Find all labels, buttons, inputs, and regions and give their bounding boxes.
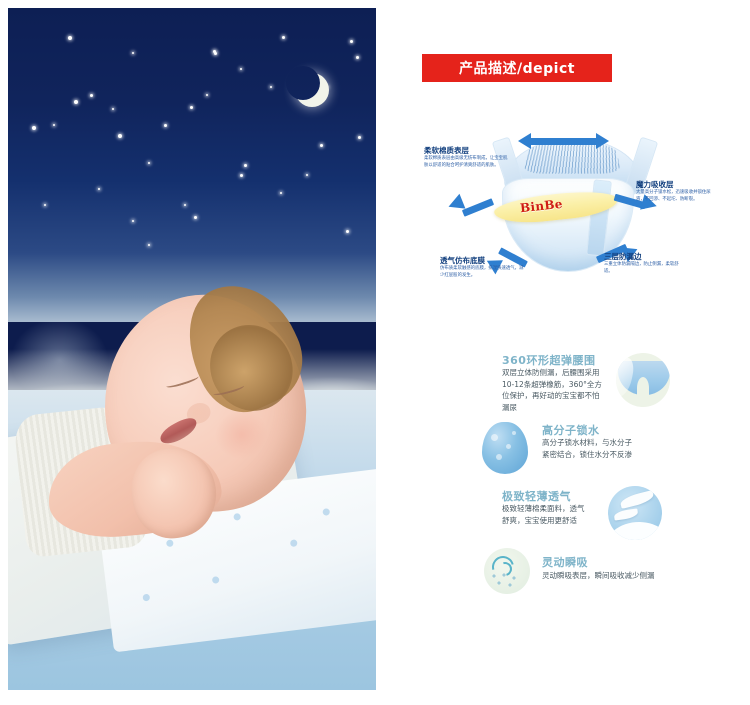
callout-breathable-cloth-backsheet: 透气仿布底膜 仿布质柔软触感的底膜，排湿快速透气，减少红屁股的发生。 (440, 256, 526, 279)
callout-triple-leak-guard: 三层防漏边 三重立体防漏隔边，防止侧漏，柔软舒适。 (604, 252, 684, 275)
star (68, 36, 72, 40)
feature-body: 高分子锁水材料，与水分子紧密结合，锁住水分不反渗 (542, 437, 638, 460)
callout-title: 魔力吸收层 (636, 180, 716, 189)
content-panel: 产品描述/depict BinBe (386, 0, 750, 705)
feature-title: 360环形超弹腰围 (502, 352, 595, 368)
star (356, 56, 359, 59)
callout-title: 柔软棉质表层 (424, 146, 510, 155)
crescent-moon-icon (286, 66, 320, 100)
star (44, 204, 46, 206)
star (32, 126, 36, 130)
callout-body: 三重立体防漏隔边，防止侧漏，柔软舒适。 (604, 262, 684, 275)
callout-body: 仿布质柔软触感的底膜，排湿快速透气，减少红屁股的发生。 (440, 266, 526, 279)
star (280, 192, 282, 194)
product-detail-page: 产品描述/depict BinBe (0, 0, 750, 705)
star (326, 86, 328, 88)
star (346, 230, 349, 233)
star (164, 124, 167, 127)
star (98, 188, 100, 190)
callout-body: 大量高分子锁水松，迅速吸收并锁住尿液，不回渗、不起坨、防断裂。 (636, 190, 716, 203)
star (194, 216, 197, 219)
feature-title: 高分子锁水 (542, 422, 600, 438)
feature-title: 灵动瞬吸 (542, 554, 588, 570)
callout-title: 透气仿布底膜 (440, 256, 526, 265)
feature-body: 灵动瞬吸表层，瞬间吸收减少侧漏 (542, 570, 722, 582)
sleeping-baby (60, 284, 340, 557)
star (148, 162, 150, 164)
star (282, 36, 285, 39)
baby-cheek (211, 406, 272, 463)
feather-icon (608, 486, 662, 540)
hero-photo (8, 8, 376, 690)
star (184, 204, 186, 206)
star (240, 68, 242, 70)
star (190, 106, 193, 109)
product-structure-diagram: BinBe (400, 130, 740, 290)
feature-body: 双层立体防侧漏，后腰围采用10-12条超弹橡筋，360°全方位保护，再好动的宝宝… (502, 367, 606, 414)
star (132, 220, 134, 222)
star (320, 144, 323, 147)
star (118, 134, 122, 138)
baby-eye-left (166, 373, 201, 390)
star (240, 174, 243, 177)
feature-title: 极致轻薄透气 (502, 488, 571, 504)
callout-soft-cotton-topsheet: 柔软棉质表层 柔软棉质表层由高级无纺布制成，让宝宝肌肤以舒适的贴合呵护清爽舒适的… (424, 146, 510, 169)
callout-body: 柔软棉质表层由高级无纺布制成，让宝宝肌肤以舒适的贴合呵护清爽舒适的肌肤。 (424, 156, 510, 169)
star (112, 108, 114, 110)
star (74, 100, 78, 104)
star (90, 94, 93, 97)
star (270, 86, 272, 88)
feature-body: 极致轻薄棉柔面料，透气舒爽，宝宝使用更舒适 (502, 503, 588, 526)
section-banner: 产品描述/depict (422, 54, 612, 82)
star (206, 94, 208, 96)
feature-item-instant-absorption[interactable]: 灵动瞬吸 灵动瞬吸表层，瞬间吸收减少侧漏 (386, 544, 750, 594)
star (244, 164, 247, 167)
star (358, 136, 361, 139)
star (350, 40, 353, 43)
callout-title: 三层防漏边 (604, 252, 684, 261)
feature-list: 360环形超弹腰围 双层立体防侧漏，后腰围采用10-12条超弹橡筋，360°全方… (386, 350, 750, 594)
water-drop-icon (482, 422, 528, 474)
star (132, 52, 134, 54)
star (214, 52, 217, 55)
feature-item-ultra-thin-breathable[interactable]: 极致轻薄透气 极致轻薄棉柔面料，透气舒爽，宝宝使用更舒适 (386, 484, 750, 544)
feature-item-polymer-water-lock[interactable]: 高分子锁水 高分子锁水材料，与水分子紧密结合，锁住水分不反渗 (386, 416, 750, 484)
swirl-absorb-icon (484, 548, 530, 594)
callout-magic-absorbent-core: 魔力吸收层 大量高分子锁水松，迅速吸收并锁住尿液，不回渗、不起坨、防断裂。 (636, 180, 716, 203)
star (306, 174, 308, 176)
star (148, 244, 150, 246)
feature-item-elastic-waistband[interactable]: 360环形超弹腰围 双层立体防侧漏，后腰围采用10-12条超弹橡筋，360°全方… (386, 350, 750, 416)
diaper-pants-icon (616, 353, 670, 407)
star (53, 124, 55, 126)
